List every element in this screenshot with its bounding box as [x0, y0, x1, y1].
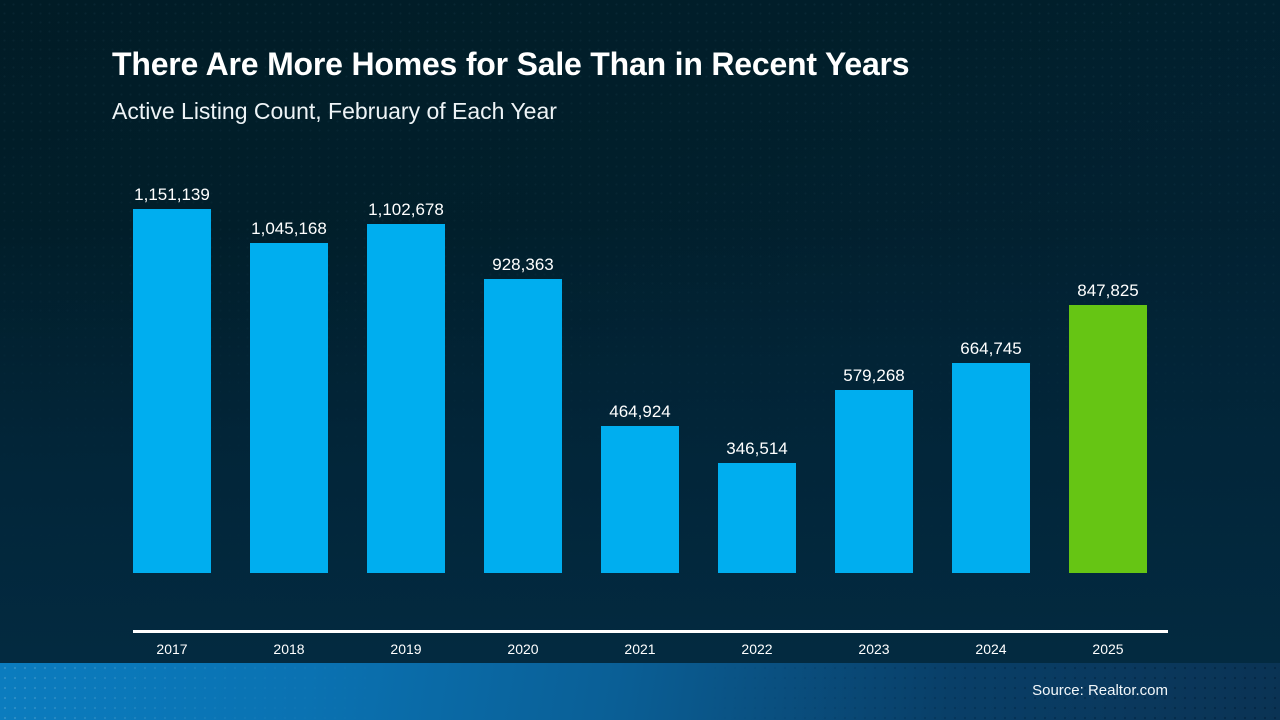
x-tick-2024: 2024 — [952, 640, 1030, 658]
bar-chart: 1,151,1391,045,1681,102,678928,363464,92… — [0, 0, 1280, 663]
bar-value-label-2022: 346,514 — [726, 439, 787, 459]
bar-group-2023[interactable]: 579,268 — [835, 360, 913, 573]
bar-group-2020[interactable]: 928,363 — [484, 249, 562, 573]
bar-value-label-2018: 1,045,168 — [251, 219, 327, 239]
bar-2020[interactable] — [484, 279, 562, 573]
bar-group-2025[interactable]: 847,825 — [1069, 275, 1147, 573]
bar-value-label-2024: 664,745 — [960, 339, 1021, 359]
bar-group-2017[interactable]: 1,151,139 — [133, 179, 211, 573]
bar-value-label-2025: 847,825 — [1077, 281, 1138, 301]
bar-2022[interactable] — [718, 463, 796, 573]
x-tick-2019: 2019 — [367, 640, 445, 658]
bar-group-2024[interactable]: 664,745 — [952, 333, 1030, 573]
bar-value-label-2019: 1,102,678 — [368, 200, 444, 220]
bar-group-2022[interactable]: 346,514 — [718, 433, 796, 573]
bar-group-2019[interactable]: 1,102,678 — [367, 194, 445, 573]
x-tick-2018: 2018 — [250, 640, 328, 658]
bar-2023[interactable] — [835, 390, 913, 573]
bar-2024[interactable] — [952, 363, 1030, 573]
bar-2018[interactable] — [250, 243, 328, 573]
bar-value-label-2017: 1,151,139 — [134, 185, 210, 205]
bar-group-2018[interactable]: 1,045,168 — [250, 213, 328, 573]
x-tick-2020: 2020 — [484, 640, 562, 658]
slide-canvas: There Are More Homes for Sale Than in Re… — [0, 0, 1280, 720]
footer-bar: Source: Realtor.com — [0, 663, 1280, 720]
bar-value-label-2021: 464,924 — [609, 402, 670, 422]
bar-value-label-2023: 579,268 — [843, 366, 904, 386]
x-tick-2022: 2022 — [718, 640, 796, 658]
x-axis-line — [133, 630, 1168, 633]
x-tick-2025: 2025 — [1069, 640, 1147, 658]
bar-2017[interactable] — [133, 209, 211, 573]
bar-value-label-2020: 928,363 — [492, 255, 553, 275]
bar-2021[interactable] — [601, 426, 679, 573]
x-tick-2017: 2017 — [133, 640, 211, 658]
bar-group-2021[interactable]: 464,924 — [601, 396, 679, 573]
x-tick-2021: 2021 — [601, 640, 679, 658]
source-attribution: Source: Realtor.com — [1032, 682, 1168, 699]
bar-2025[interactable] — [1069, 305, 1147, 573]
x-tick-2023: 2023 — [835, 640, 913, 658]
bar-2019[interactable] — [367, 224, 445, 573]
